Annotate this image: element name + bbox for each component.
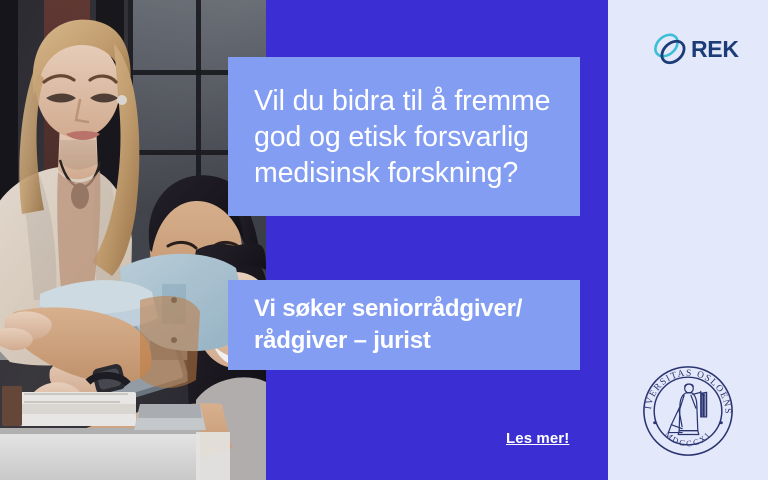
headline-card: Vil du bidra til å fremme god og etisk f…	[228, 57, 580, 216]
subheadline-card: Vi søker seniorrådgiver/ rådgiver – juri…	[228, 280, 580, 370]
rek-logo: REK	[650, 28, 740, 70]
les-mer-link[interactable]: Les mer!	[506, 430, 569, 447]
headline-line-3: medisinsk forskning?	[254, 157, 518, 189]
rek-wordmark: REK	[691, 38, 739, 61]
headline-line-1: Vil du bidra til å fremme	[254, 85, 550, 117]
subheadline-line-2: rådgiver – jurist	[254, 327, 431, 354]
uio-seal-top-text: UNIVERSITAS OSLOENSIS	[639, 362, 732, 415]
uio-seal: UNIVERSITAS OSLOENSIS MDCCCXI	[639, 362, 737, 460]
rek-interlocking-ovals-icon	[650, 29, 690, 69]
headline-text: Vil du bidra til å fremme god og etisk f…	[254, 83, 550, 191]
svg-text:UNIVERSITAS OSLOENSIS: UNIVERSITAS OSLOENSIS	[639, 362, 732, 415]
headline-line-2: god og etisk forsvarlig	[254, 121, 529, 153]
subheadline-line-1: Vi søker seniorrådgiver/	[254, 295, 522, 322]
recruitment-banner: Vil du bidra til å fremme god og etisk f…	[0, 0, 768, 480]
team-photo	[0, 0, 266, 480]
subheadline-text: Vi søker seniorrådgiver/ rådgiver – juri…	[254, 293, 522, 357]
